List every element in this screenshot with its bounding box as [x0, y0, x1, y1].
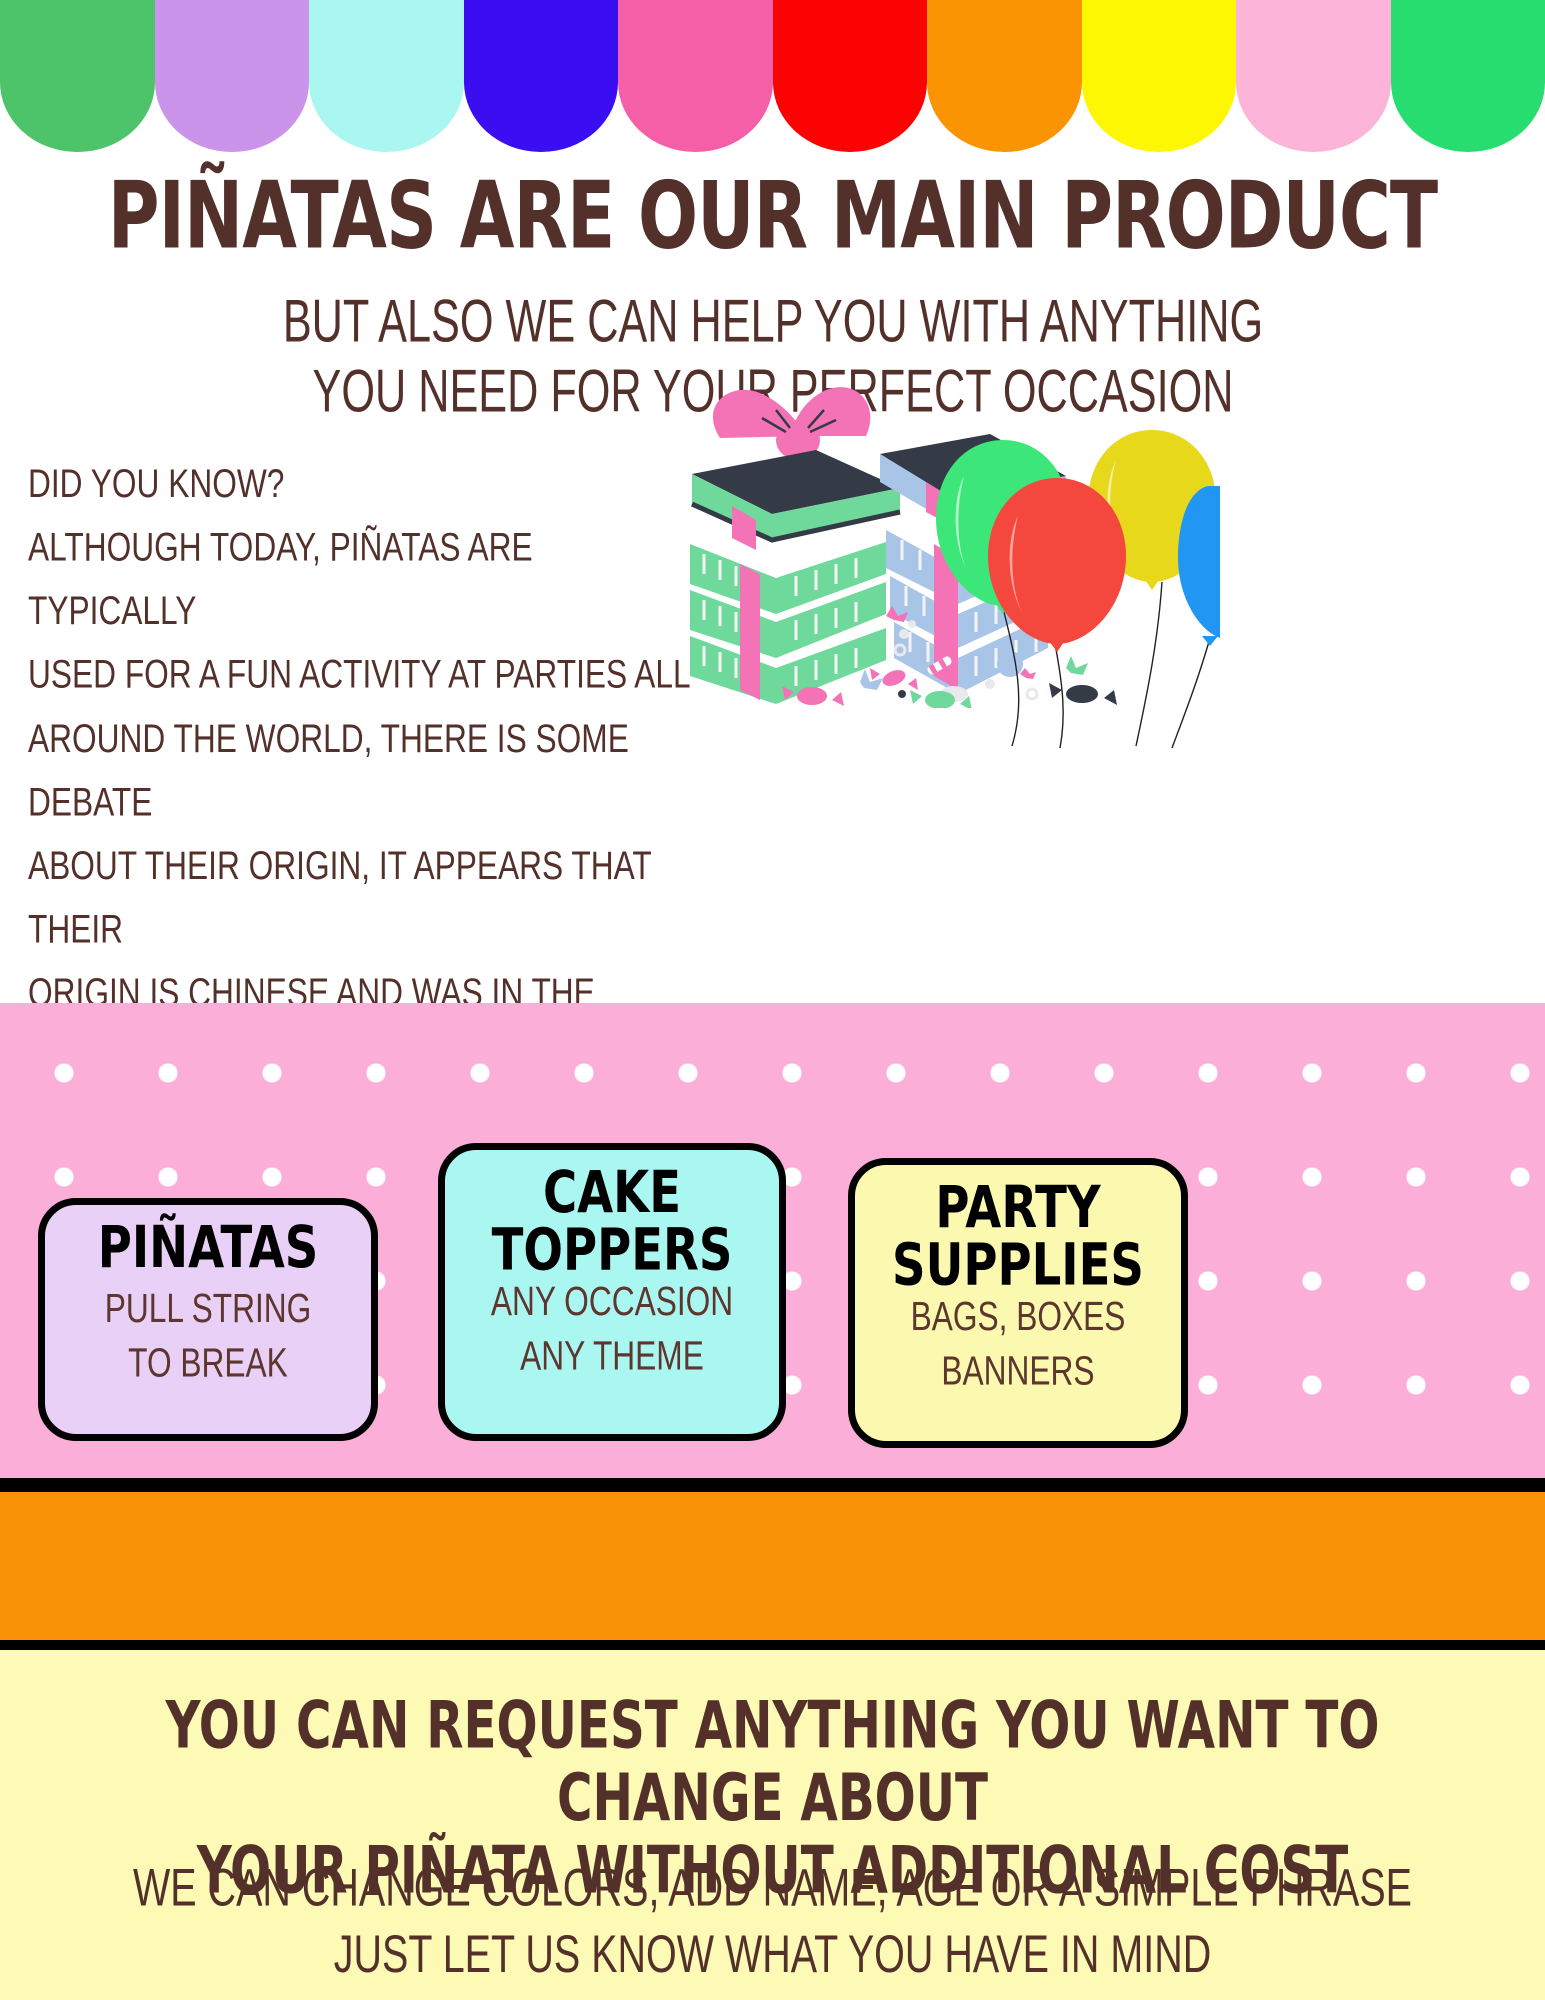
product-cards: PIÑATAS PULL STRING TO BREAK CAKE TOPPER… — [0, 1003, 1545, 1478]
bunting-tab-7 — [927, 0, 1082, 152]
bunting-tab-3 — [309, 0, 464, 152]
bunting-tab-4 — [464, 0, 619, 152]
card-pinatas[interactable]: PIÑATAS PULL STRING TO BREAK — [38, 1198, 378, 1441]
card-party-supplies-subtitle: BAGS, BOXES BANNERS — [862, 1289, 1175, 1399]
balloons-svg — [930, 430, 1220, 750]
cta-subheading: WE CAN CHANGE COLORS, ADD NAME, AGE OR A… — [46, 1855, 1498, 1988]
card-pinatas-subtitle: PULL STRING TO BREAK — [52, 1281, 365, 1391]
poster-canvas: PIÑATAS ARE OUR MAIN PRODUCT BUT ALSO WE… — [0, 0, 1545, 2000]
orange-band — [0, 1492, 1545, 1640]
card-party-supplies[interactable]: PARTY SUPPLIES BAGS, BOXES BANNERS — [848, 1158, 1188, 1448]
balloon-red — [988, 478, 1126, 652]
card-cake-toppers[interactable]: CAKE TOPPERS ANY OCCASION ANY THEME — [438, 1143, 786, 1441]
card-cake-toppers-title: CAKE TOPPERS — [450, 1164, 774, 1279]
page-title: PIÑATAS ARE OUR MAIN PRODUCT — [54, 172, 1491, 261]
bunting-tab-2 — [155, 0, 310, 152]
card-cake-toppers-subtitle: ANY OCCASION ANY THEME — [452, 1274, 773, 1384]
bunting-tab-10 — [1391, 0, 1545, 152]
bunting-banner — [0, 0, 1545, 152]
card-pinatas-title: PIÑATAS — [50, 1219, 366, 1277]
bunting-tab-8 — [1082, 0, 1237, 152]
headline-block: PIÑATAS ARE OUR MAIN PRODUCT BUT ALSO WE… — [0, 152, 1545, 396]
bunting-tab-9 — [1236, 0, 1391, 152]
bunting-tab-1 — [0, 0, 155, 152]
divider-line-top — [0, 1478, 1545, 1492]
bunting-tab-6 — [773, 0, 928, 152]
balloons-illustration — [930, 430, 1220, 750]
card-party-supplies-title: PARTY SUPPLIES — [860, 1179, 1176, 1294]
bunting-tab-5 — [618, 0, 773, 152]
